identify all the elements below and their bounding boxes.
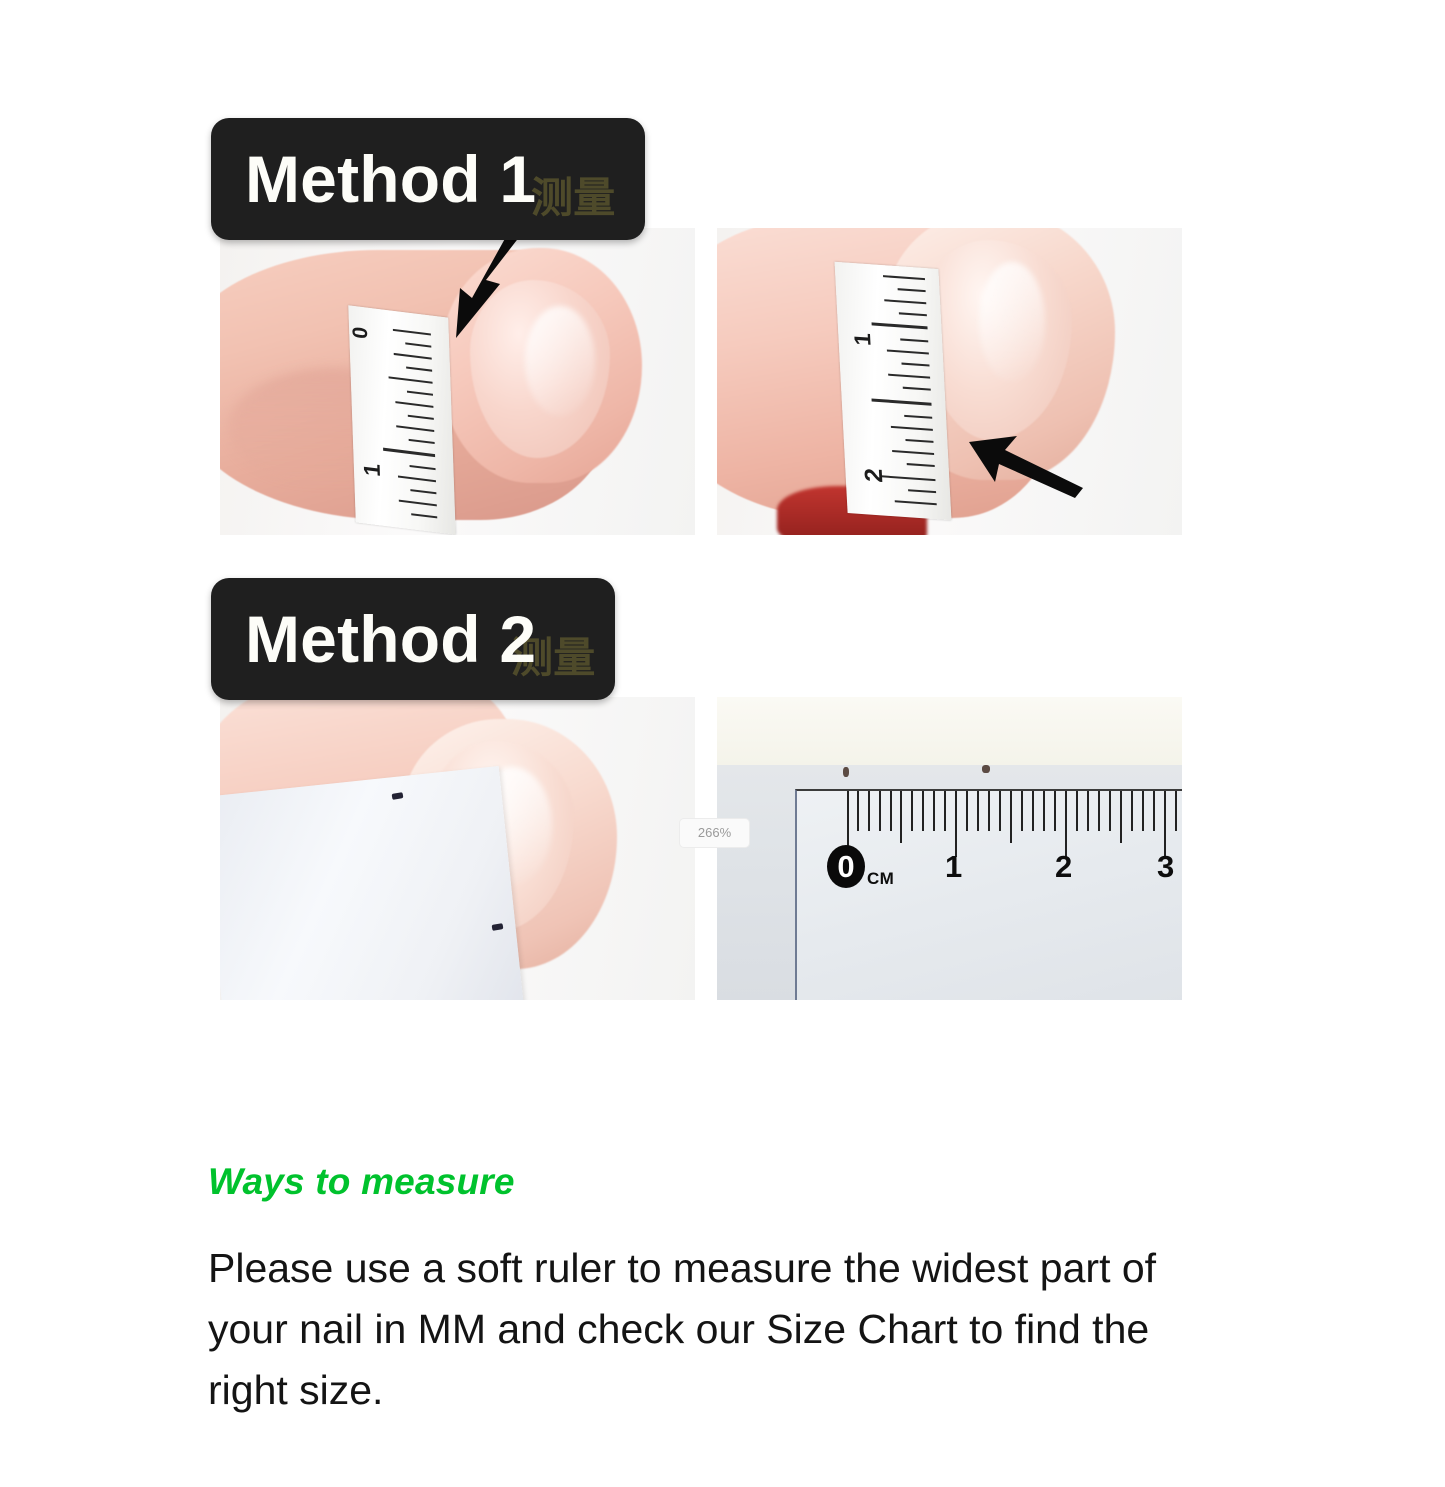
dust-speck-right: [982, 765, 990, 773]
tick-m22: [1087, 791, 1089, 831]
ruler-number-3: 3: [1157, 851, 1174, 882]
pointer-arrow-icon: [965, 424, 1095, 504]
tick-half-2: [1120, 791, 1122, 843]
tick-m26: [1131, 791, 1133, 831]
method-1-photo-left: 0 1: [220, 228, 695, 535]
tick-half-1: [1010, 791, 1012, 843]
ruler-zero-badge: 0: [827, 845, 865, 888]
ways-to-measure-body: Please use a soft ruler to measure the w…: [208, 1238, 1228, 1420]
tick-m1: [857, 791, 859, 831]
method-2-label: Method 2: [245, 601, 536, 677]
method-1-photo-right: 1 2: [717, 228, 1182, 535]
tick-m19: [1054, 791, 1056, 831]
ruler-number-1: 1: [945, 851, 962, 882]
tick-m4: [890, 791, 892, 831]
tick-1cm: [955, 791, 957, 857]
method-2-photo-right: 0 CM 1 2 3: [717, 697, 1182, 1000]
soft-measuring-tape: 1 2: [835, 262, 952, 521]
method-2-badge: 测量 Method 2: [211, 578, 615, 700]
tick-m24: [1109, 791, 1111, 831]
dust-speck-left: [843, 767, 849, 777]
method-1-ghost-text: 测量: [531, 164, 615, 225]
method-1-label: Method 1: [245, 141, 536, 217]
tape-number-2: 2: [860, 467, 890, 483]
tick-m6: [911, 791, 913, 831]
tick-m14: [999, 791, 1001, 831]
tape-number-1: 1: [849, 332, 877, 347]
nail-highlight: [979, 262, 1045, 382]
tick-m7: [922, 791, 924, 831]
tick-m28: [1153, 791, 1155, 831]
ruler-number-2: 2: [1055, 851, 1072, 882]
tick-3cm: [1164, 791, 1166, 857]
description-block: Ways to measure Please use a soft ruler …: [208, 1160, 1238, 1420]
tape-number-1: 1: [359, 462, 386, 478]
tick-m18: [1043, 791, 1045, 831]
method-1-badge: 测量 Method 1: [211, 118, 645, 240]
tick-m16: [1021, 791, 1023, 831]
tick-m21: [1076, 791, 1078, 831]
tick-m27: [1142, 791, 1144, 831]
tick-half-0: [900, 791, 902, 843]
tick-2cm: [1065, 791, 1067, 857]
tick-m8: [933, 791, 935, 831]
ways-to-measure-heading: Ways to measure: [208, 1160, 1238, 1204]
tape-number-0: 0: [349, 326, 373, 341]
method-2-photo-left: [220, 697, 695, 1000]
tick-m2: [868, 791, 870, 831]
tick-m12: [977, 791, 979, 831]
zoom-level-chip[interactable]: 266%: [679, 818, 750, 848]
tick-m9: [944, 791, 946, 831]
tick-m13: [988, 791, 990, 831]
tick-m11: [966, 791, 968, 831]
ruler-unit-label: CM: [867, 869, 894, 889]
tick-m17: [1032, 791, 1034, 831]
pointer-arrow-icon: [416, 228, 536, 352]
tick-m3: [879, 791, 881, 831]
tick-m23: [1098, 791, 1100, 831]
photo-background: [717, 697, 1182, 765]
tick-m30: [1175, 791, 1177, 831]
paper-strip: [220, 766, 524, 1000]
